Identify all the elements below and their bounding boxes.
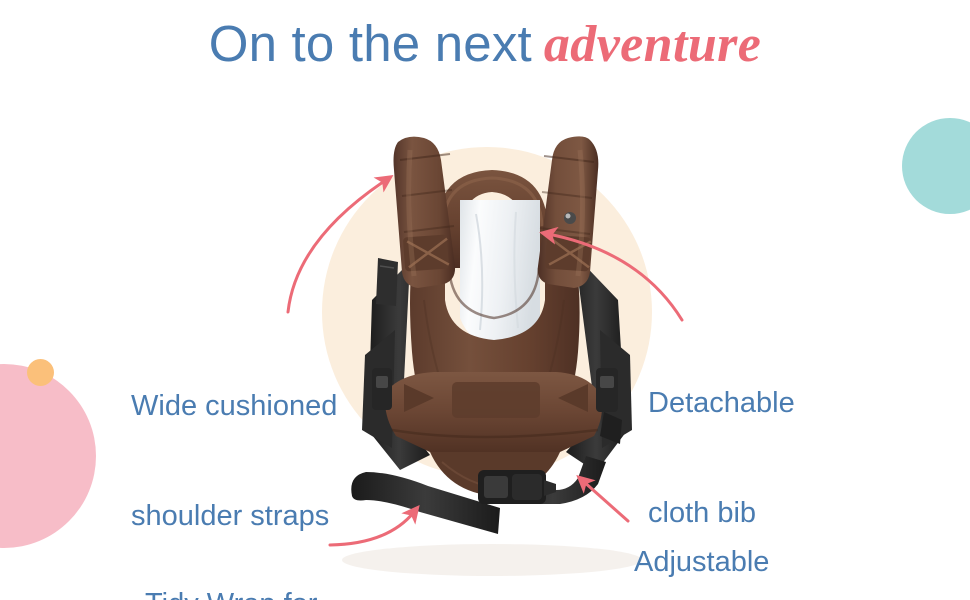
carrier-strap-tab-left <box>376 258 398 306</box>
callout-waist-line-1: Adjustable <box>634 544 827 581</box>
callout-label-tidy-wrap: Tidy Wrap for Extra strap <box>145 512 317 600</box>
infographic-canvas: On to the nextadventure <box>0 0 970 600</box>
callout-bib-line-1: Detachable <box>648 385 795 422</box>
carrier-side-hardware-left <box>372 368 392 410</box>
carrier-shoulder-strap-left <box>394 137 456 288</box>
callout-shoulder-line-1: Wide cushioned <box>131 388 337 425</box>
carrier-waist-belt <box>385 372 602 452</box>
product-shadow <box>342 544 642 576</box>
callout-label-waist-belt: Adjustable waist belt for lumbar support <box>634 470 827 600</box>
carrier-shoulder-strap-right <box>538 136 599 288</box>
carrier-cloth-bib <box>460 200 540 348</box>
callout-tidy-line-1: Tidy Wrap for <box>145 586 317 600</box>
